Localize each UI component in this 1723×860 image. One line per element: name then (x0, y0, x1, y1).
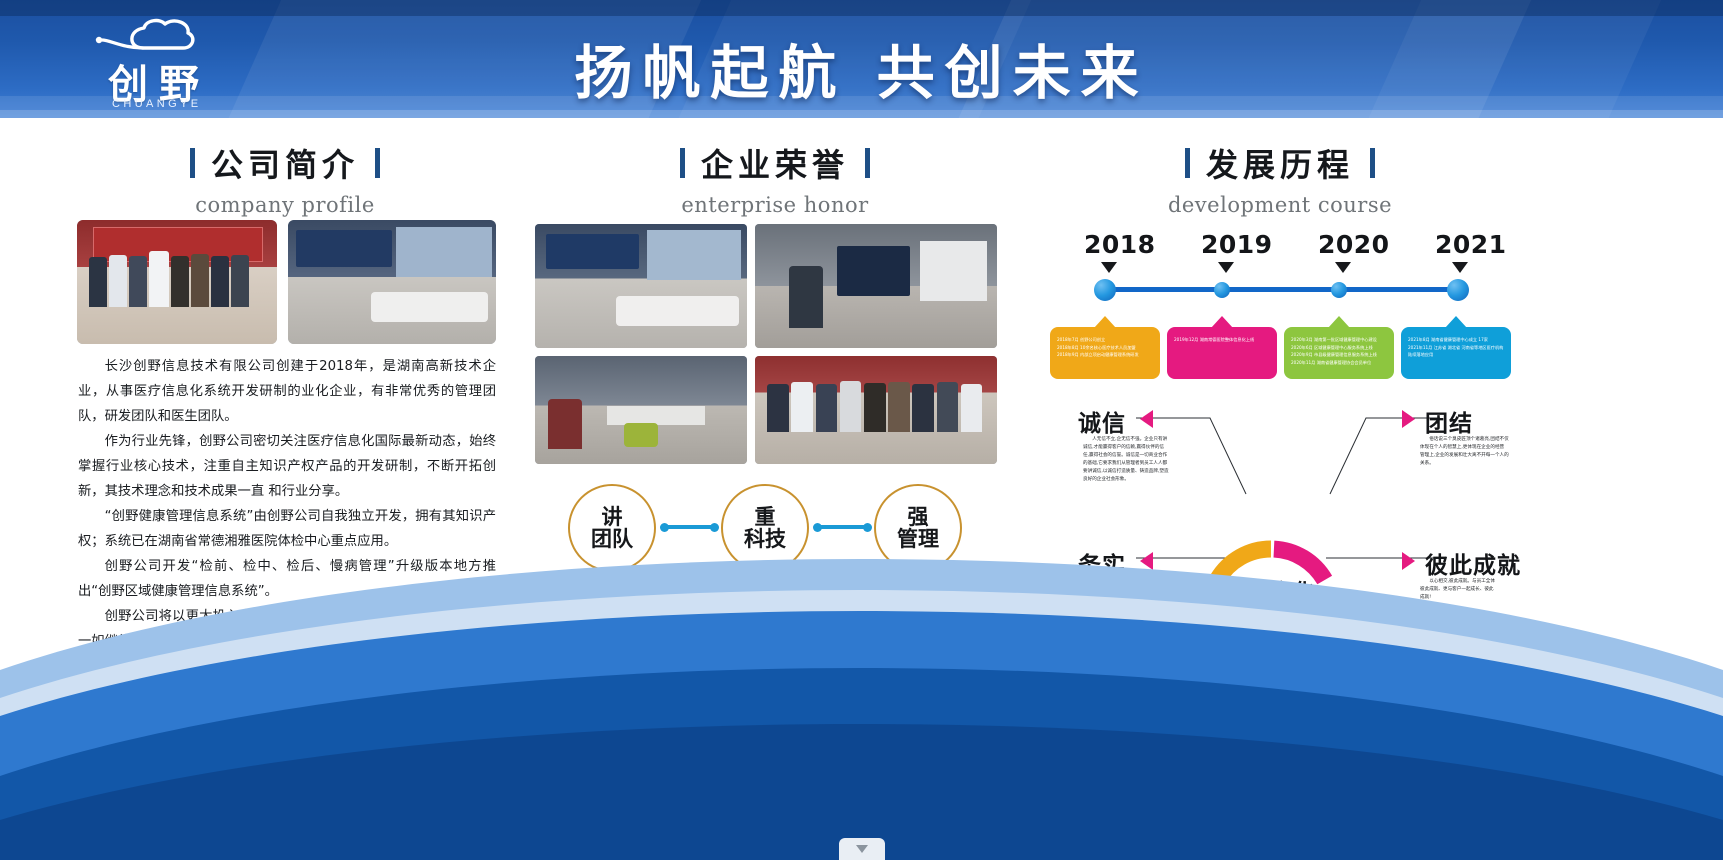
card-2018-line-1: 2018年7月 创野公司创立 (1057, 336, 1153, 344)
honor-title-row: 企业荣誉 (545, 140, 1005, 186)
wave-graphic (0, 520, 1723, 860)
person-red (548, 399, 582, 449)
integrity-line-1: 人无信不立,企无信不强。企业只有讲 (1083, 436, 1199, 444)
card-2021-line-3: 陆续落地应用 (1408, 351, 1504, 359)
tick-left-icon (680, 148, 685, 178)
card-2020-line-1: 2020年3月 湖南第一批区域健康管理中心建设 (1291, 336, 1387, 344)
unity-line-2: 体现在个人的智慧上,更体现在企业的经营 (1420, 444, 1536, 452)
office-chair (624, 423, 658, 447)
section-header-profile: 公司简介 company profile (55, 140, 515, 217)
timeline-node-2021 (1447, 279, 1469, 301)
profile-subtitle: company profile (55, 193, 515, 217)
tick-left-icon (190, 148, 195, 178)
integrity-line-3: 任,赢得社会的信誉。诚信是一切商业合作 (1083, 452, 1199, 460)
whiteboard (920, 241, 988, 301)
unity-line-4: 关系。 (1420, 460, 1536, 468)
culture-wall-poster: 创野 CHUANGYE 扬帆起航 共创未来 公司简介 company profi… (0, 0, 1723, 860)
honor-photo-meeting (755, 224, 997, 348)
course-title: 发展历程 (1206, 140, 1354, 186)
arrow-unity-icon (1402, 410, 1415, 428)
timeline-year-2018: 2018 (1084, 230, 1156, 259)
section-header-honor: 企业荣誉 enterprise honor (545, 140, 1005, 217)
honor-photo-workspace (535, 356, 747, 464)
section-header-course: 发展历程 development course (1050, 140, 1510, 217)
honor-photo-reception (535, 224, 747, 348)
course-subtitle: development course (1050, 193, 1510, 217)
unity-line-3: 管理上,企业的发展和壮大离不开每一个人的 (1420, 452, 1536, 460)
card-2021-line-1: 2021年8月 湖南省健康管理中心成立 17家 (1408, 336, 1504, 344)
header-stripe-bottom (0, 110, 1723, 118)
honor-title: 企业荣誉 (701, 140, 849, 186)
culture-body-integrity: 人无信不立,企无信不强。企业只有讲 诚信,才能赢得客户的信赖,赢得伙伴的信 任,… (1083, 436, 1199, 484)
caret-2020-icon (1335, 262, 1351, 273)
timeline-card-2020: 2020年3月 湖南第一批区域健康管理中心建设 2020年6月 区域健康管理中心… (1284, 327, 1394, 379)
integrity-line-2: 诚信,才能赢得客户的信赖,赢得伙伴的信 (1083, 444, 1199, 452)
arrow-integrity-icon (1140, 410, 1153, 428)
scroll-down-icon[interactable] (839, 838, 885, 860)
timeline-year-2020: 2020 (1318, 230, 1390, 259)
integrity-line-4: 的基础,它要求我们从管理者到员工人人都 (1083, 460, 1199, 468)
card-2019-line-1: 2019年12月 湖南常德医院整体信息化上线 (1174, 336, 1270, 344)
reception-sign (546, 234, 639, 269)
timeline-year-2021: 2021 (1435, 230, 1507, 259)
profile-title-row: 公司简介 (55, 140, 515, 186)
profile-title: 公司简介 (211, 140, 359, 186)
tick-right-icon (865, 148, 870, 178)
culture-label-integrity: 诚信 (1078, 404, 1126, 438)
lobby-sofa (371, 292, 487, 322)
integrity-line-6: 良好的企业社会形象。 (1083, 476, 1199, 484)
integrity-line-5: 要讲诚信,以诚信打造质量、铸造品牌,塑造 (1083, 468, 1199, 476)
card-2021-line-2: 2021年11月 江苏省 湖北省 河南省等地区医疗机构 (1408, 344, 1504, 352)
meeting-screen (837, 246, 910, 296)
card-2018-line-3: 2018年9月 内部立项启动健康管理系统研发 (1057, 351, 1153, 359)
scroll-caret (856, 845, 868, 853)
honor-photo-grid (535, 224, 997, 464)
card-2018-line-2: 2018年8月 10余名核心医疗技术人员加盟 (1057, 344, 1153, 352)
card-2020-line-2: 2020年6月 区域健康管理中心服务系统上线 (1291, 344, 1387, 352)
caret-2019-icon (1218, 262, 1234, 273)
office-lobby-photo (288, 220, 496, 344)
reception-sofa (616, 296, 739, 326)
culture-body-unity: 俗话说三个臭皮匠顶个诸葛亮,团结不仅 体现在个人的智慧上,更体现在企业的经营 管… (1420, 436, 1536, 468)
header-stripe-top (0, 0, 1723, 16)
presenter (789, 266, 823, 328)
reception-window (647, 230, 740, 280)
profile-paragraph-2: 作为行业先锋，创野公司密切关注医疗信息化国际最新动态，始终掌握行业核心技术，注重… (78, 429, 496, 504)
profile-paragraph-1: 长沙创野信息技术有限公司创建于2018年，是湖南高新技术企业，从事医疗信息化系统… (78, 354, 496, 429)
lobby-window (396, 227, 492, 277)
honor-photo-team (755, 356, 997, 464)
page-title: 扬帆起航 共创未来 (0, 26, 1723, 110)
caret-2021-icon (1452, 262, 1468, 273)
footer-wave (0, 520, 1723, 860)
timeline-card-2019: 2019年12月 湖南常德医院整体信息化上线 (1167, 327, 1277, 379)
course-title-row: 发展历程 (1050, 140, 1510, 186)
timeline-year-2019: 2019 (1201, 230, 1273, 259)
poster-header: 创野 CHUANGYE 扬帆起航 共创未来 (0, 0, 1723, 118)
culture-label-unity: 团结 (1425, 404, 1473, 438)
unity-line-1: 俗话说三个臭皮匠顶个诸葛亮,团结不仅 (1420, 436, 1536, 444)
timeline-card-2021: 2021年8月 湖南省健康管理中心成立 17家 2021年11月 江苏省 湖北省… (1401, 327, 1511, 379)
timeline-node-2019 (1214, 282, 1230, 298)
team-group-photo (77, 220, 277, 344)
timeline-node-2020 (1331, 282, 1347, 298)
desk (607, 406, 705, 425)
lobby-signage (296, 230, 392, 267)
caret-2018-icon (1101, 262, 1117, 273)
tick-left-icon (1185, 148, 1190, 178)
honor-subtitle: enterprise honor (545, 193, 1005, 217)
timeline-node-2018 (1094, 279, 1116, 301)
timeline-card-2018: 2018年7月 创野公司创立 2018年8月 10余名核心医疗技术人员加盟 20… (1050, 327, 1160, 379)
poster-body: 公司简介 company profile 企业荣誉 enterprise hon… (0, 118, 1723, 860)
card-2020-line-4: 2020年11月 湖南省健康管理协会会员单位 (1291, 359, 1387, 367)
tick-right-icon (375, 148, 380, 178)
card-2020-line-3: 2020年9月 市县级健康管理信息服务系统上线 (1291, 351, 1387, 359)
tick-right-icon (1370, 148, 1375, 178)
timeline-rail (1104, 287, 1457, 292)
